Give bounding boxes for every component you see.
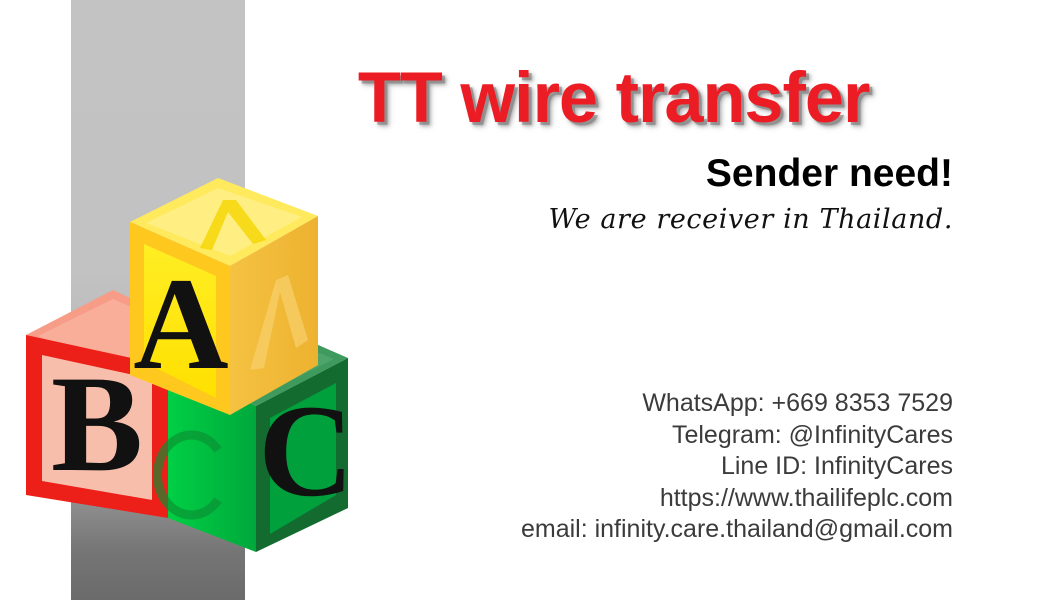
tagline: We are receiver in Thailand. bbox=[548, 203, 953, 237]
abc-alphabet-blocks: B C bbox=[18, 170, 438, 570]
block-a-yellow: A bbox=[130, 178, 318, 415]
contact-website[interactable]: https://www.thailifeplc.com bbox=[521, 483, 953, 515]
contact-block: WhatsApp: +669 8353 7529 Telegram: @Infi… bbox=[521, 388, 953, 546]
contact-telegram[interactable]: Telegram: @InfinityCares bbox=[521, 420, 953, 452]
subheading: Sender need! bbox=[706, 152, 953, 196]
contact-line-id[interactable]: Line ID: InfinityCares bbox=[521, 451, 953, 483]
contact-email[interactable]: email: infinity.care.thailand@gmail.com bbox=[521, 514, 953, 546]
contact-whatsapp[interactable]: WhatsApp: +669 8353 7529 bbox=[521, 388, 953, 420]
page-title: TT wire transfer bbox=[283, 63, 944, 135]
block-b-letter: B bbox=[51, 347, 143, 500]
poster-canvas: B C bbox=[0, 0, 1063, 600]
block-c-letter: C bbox=[258, 377, 353, 524]
block-a-letter: A bbox=[133, 250, 228, 397]
